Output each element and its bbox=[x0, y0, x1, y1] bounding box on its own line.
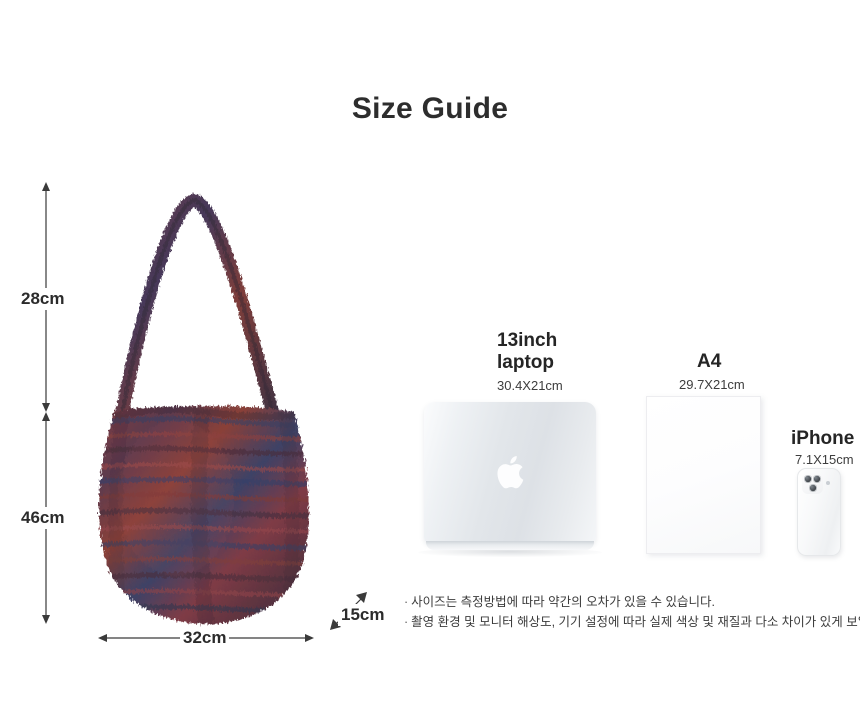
dimension-label-46cm: 46cm bbox=[18, 507, 67, 529]
apple-logo-icon bbox=[495, 454, 525, 490]
a4-size-text: 29.7X21cm bbox=[679, 377, 745, 392]
note-bullet-2: · bbox=[404, 612, 408, 632]
a4-label: A4 bbox=[697, 351, 721, 373]
laptop-base bbox=[426, 541, 594, 550]
bag-body bbox=[90, 406, 320, 624]
laptop-label-line-1: 13inch bbox=[497, 330, 557, 352]
macbook-icon bbox=[424, 402, 596, 554]
camera-lens-3-icon bbox=[809, 484, 817, 492]
page-title: Size Guide bbox=[0, 92, 860, 126]
paper-sheet-icon bbox=[646, 396, 759, 554]
iphone-label: iPhone bbox=[791, 428, 854, 450]
size-guide-page: Size Guide bbox=[0, 0, 860, 727]
camera-lens-2-icon bbox=[813, 475, 821, 483]
laptop-label-line-2: laptop bbox=[497, 352, 557, 374]
dimension-label-15cm: 15cm bbox=[338, 604, 387, 626]
camera-module-icon bbox=[802, 473, 823, 494]
product-bag-image bbox=[80, 180, 330, 630]
note-line-1: ·사이즈는 측정방법에 따라 약간의 오차가 있을 수 있습니다. bbox=[404, 592, 854, 612]
bag-strap bbox=[120, 200, 276, 424]
iphone-body bbox=[797, 468, 841, 556]
iphone-size-text: 7.1X15cm bbox=[795, 452, 854, 467]
disclaimer-notes: ·사이즈는 측정방법에 따라 약간의 오차가 있을 수 있습니다. ·촬영 환경… bbox=[404, 592, 854, 633]
camera-flash-icon bbox=[826, 481, 830, 485]
camera-lens-1-icon bbox=[804, 475, 812, 483]
dimension-label-32cm: 32cm bbox=[180, 627, 229, 649]
note-line-2: ·촬영 환경 및 모니터 해상도, 기기 설정에 따라 실제 색상 및 재질과 … bbox=[404, 612, 854, 632]
note-text-1: 사이즈는 측정방법에 따라 약간의 오차가 있을 수 있습니다. bbox=[411, 595, 715, 609]
a4-sheet bbox=[646, 396, 761, 554]
note-text-2: 촬영 환경 및 모니터 해상도, 기기 설정에 따라 실제 색상 및 재질과 다… bbox=[411, 615, 860, 629]
bag-illustration-svg bbox=[80, 180, 330, 630]
laptop-size-text: 30.4X21cm bbox=[497, 378, 563, 393]
note-bullet-1: · bbox=[404, 592, 408, 612]
iphone-icon bbox=[797, 468, 841, 556]
dimension-label-28cm: 28cm bbox=[18, 288, 67, 310]
laptop-label: 13inch laptop bbox=[497, 330, 557, 375]
laptop-lid bbox=[424, 402, 596, 544]
